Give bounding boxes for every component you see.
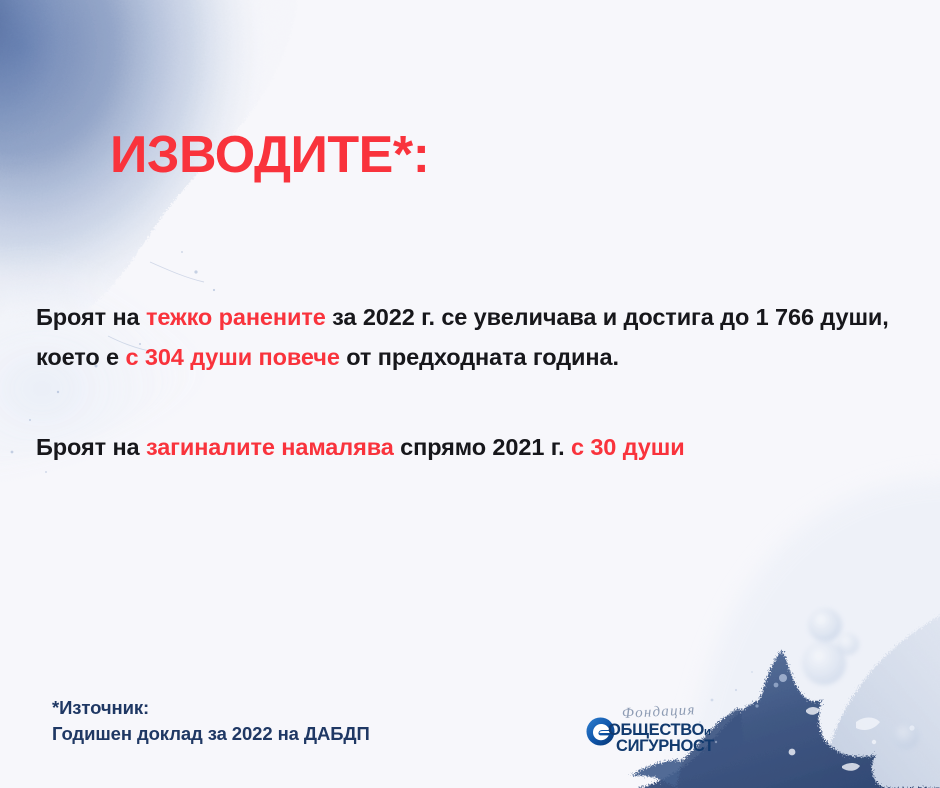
source-label: *Източник:: [52, 695, 370, 721]
conclusion-paragraph-2: Броят на загиналите намалява спрямо 2021…: [36, 427, 896, 467]
watercolor-bubbles: [755, 608, 919, 749]
text-run-highlighted: загиналите намалява: [146, 434, 394, 460]
source-footnote: *Източник: Годишен доклад за 2022 на ДАБ…: [52, 695, 370, 747]
decorative-watercolor-artwork: [0, 0, 940, 788]
text-run-highlighted: с 304 души повече: [125, 344, 339, 370]
text-run: спрямо 2021 г.: [394, 434, 571, 460]
source-reference: Годишен доклад за 2022 на ДАБДП: [52, 721, 370, 747]
organization-logo: Фондация ОБЩЕСТВОи СИГУРНОСТ: [586, 706, 710, 756]
text-run-highlighted: тежко ранените: [146, 304, 326, 330]
logo-word-second: СИГУРНОСТ: [616, 737, 714, 756]
watercolor-top-left: [0, 0, 300, 476]
text-run: от предходната година.: [340, 344, 619, 370]
text-run: Броят на: [36, 304, 146, 330]
conclusion-paragraph-1: Броят на тежко ранените за 2022 г. се ув…: [36, 297, 896, 377]
text-run-highlighted: с 30 души: [571, 434, 685, 460]
text-run: Броят на: [36, 434, 146, 460]
logo-script-text: Фондация: [622, 702, 696, 723]
slide-title: ИЗВОДИТЕ*:: [110, 127, 429, 184]
watercolor-svg: [0, 0, 940, 788]
slide-canvas: ИЗВОДИТЕ*: Броят на тежко ранените за 20…: [0, 0, 940, 788]
